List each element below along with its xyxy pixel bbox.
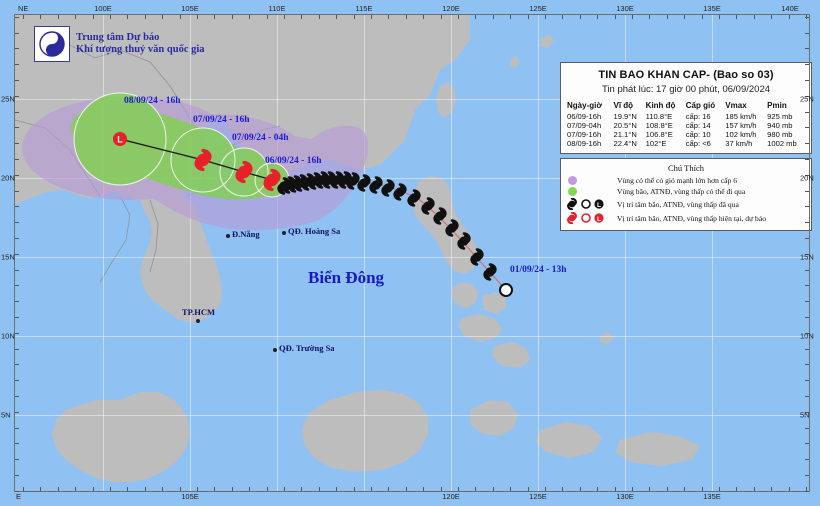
table-header-row: Ngày-giờ Vĩ độ Kinh độ Cấp gió Vmax Pmin (566, 100, 806, 112)
cell-category: cấp: 14 (685, 121, 725, 130)
col-datetime: Ngày-giờ (566, 100, 613, 112)
place-dot (226, 234, 230, 238)
org-line-1: Trung tâm Dự báo (76, 32, 205, 45)
cell-lon: 108.8°E (645, 121, 685, 130)
org-line-2: Khí tượng thuỷ văn quốc gia (76, 44, 205, 57)
cell-vmax: 102 km/h (724, 130, 766, 139)
legend-marker-group: L (566, 198, 612, 210)
legend-marker-group (566, 187, 612, 196)
lon-tick-label: 135E (703, 4, 721, 13)
lon-tick-label: 105E (181, 492, 199, 501)
lat-tick-label: 5N (800, 411, 810, 420)
bulletin-box: TIN BAO KHAN CAP- (Bao so 03) Tin phát l… (560, 62, 812, 154)
lon-tick-label: 130E (616, 4, 634, 13)
forecast-label: 08/09/24 - 16h (124, 96, 180, 106)
legend-box: Chú Thích Vùng có thể có gió mạnh lớn hơ… (560, 158, 812, 231)
red-low-circle-icon: L (594, 213, 603, 223)
cell-pmin: 940 mb (766, 121, 806, 130)
cell-lon: 102°E (645, 139, 685, 148)
organization-name: Trung tâm Dự báo Khí tượng thuỷ văn quốc… (76, 32, 205, 57)
place-dot (273, 348, 277, 352)
legend-label: Vị trí tâm bão, ATNĐ, vùng thấp đã qua (617, 200, 739, 209)
legend-item: Vùng có thể có gió mạnh lớn hơn cấp 6 (566, 176, 806, 185)
legend-marker-group: L (566, 212, 612, 224)
lon-tick-label: 140E (781, 4, 799, 13)
place-dot (196, 319, 200, 323)
lon-tick-label: 130E (616, 492, 634, 501)
sea-label-bien-dong: Biển Đông (308, 268, 384, 288)
table-row: 08/09-16h 22.4°N 102°E cấp: <6 37 km/h 1… (566, 139, 806, 148)
low-pressure-marker: L (113, 132, 127, 146)
place-label-truongsa: QĐ. Trường Sa (279, 343, 335, 353)
col-lon: Kinh độ (645, 100, 685, 112)
corner-label-e: E (16, 492, 21, 501)
cell-category: cấp: <6 (685, 139, 725, 148)
place-label-hoangsa: QĐ. Hoàng Sa (288, 226, 340, 236)
cell-datetime: 07/09-16h (566, 130, 613, 139)
col-category: Cấp gió (685, 100, 725, 112)
lon-tick-label: 115E (356, 4, 373, 13)
lat-tick-label: 5N (1, 411, 11, 420)
cell-category: cấp: 10 (685, 130, 725, 139)
cell-lon: 106.8°E (645, 130, 685, 139)
place-dot (282, 231, 286, 235)
bulletin-title: TIN BAO KHAN CAP- (Bao so 03) (566, 69, 806, 81)
forecast-table: Ngày-giờ Vĩ độ Kinh độ Cấp gió Vmax Pmin… (566, 100, 806, 148)
meteorology-logo-icon (34, 26, 70, 62)
forecast-label: 07/09/24 - 04h (232, 133, 288, 143)
cell-lat: 21.1°N (613, 130, 645, 139)
lon-tick-label: 125E (529, 4, 547, 13)
lat-tick-label: 25N (800, 95, 814, 104)
red-spiral-icon (568, 213, 576, 224)
table-row: 06/09-16h 19.9°N 110.8°E cấp: 16 185 km/… (566, 112, 806, 121)
lon-tick-label: 120E (442, 4, 460, 13)
svg-text:L: L (597, 202, 601, 209)
svg-text:L: L (597, 216, 601, 223)
lat-tick-label: 15N (800, 253, 814, 262)
forecast-label: 06/09/24 - 16h (265, 156, 321, 166)
lon-tick-label: 135E (703, 492, 721, 501)
lat-tick-label: 10N (1, 332, 15, 341)
cell-category: cấp: 16 (685, 112, 725, 121)
cell-pmin: 980 mb (766, 130, 806, 139)
cell-lat: 19.9°N (613, 112, 645, 121)
cell-datetime: 07/09-04h (566, 121, 613, 130)
cell-datetime: 08/09-16h (566, 139, 613, 148)
place-label-danang: Đ.Nẵng (232, 229, 260, 239)
lon-tick-label: 105E (181, 4, 199, 13)
legend-label: Vùng có thể có gió mạnh lớn hơn cấp 6 (617, 176, 737, 185)
cell-pmin: 1002 mb (766, 139, 806, 148)
lat-tick-label: 20N (1, 174, 15, 183)
legend-title: Chú Thích (566, 163, 806, 173)
lon-tick-label: 120E (442, 492, 460, 501)
legend-item: L Vị trí tâm bão, ATNĐ, vùng thấp hiện t… (566, 212, 806, 224)
cell-vmax: 37 km/h (724, 139, 766, 148)
cell-lon: 110.8°E (645, 112, 685, 121)
lon-tick-label: 110E (269, 4, 286, 13)
lon-tick-label: 100E (94, 4, 112, 13)
legend-label: Vị trí tâm bão, ATNĐ, vùng thấp hiện tại… (617, 214, 766, 223)
cell-vmax: 185 km/h (724, 112, 766, 121)
corner-label-ne: NE (18, 4, 28, 13)
cell-pmin: 925 mb (766, 112, 806, 121)
cell-lat: 22.4°N (613, 139, 645, 148)
purple-zone-swatch-icon (568, 176, 577, 185)
cell-lat: 20.5°N (613, 121, 645, 130)
origin-label: 01/09/24 - 13h (510, 265, 566, 275)
black-open-circle-icon (582, 200, 590, 208)
col-lat: Vĩ độ (613, 100, 645, 112)
bulletin-panel: TIN BAO KHAN CAP- (Bao so 03) Tin phát l… (560, 62, 812, 231)
black-low-circle-icon: L (594, 199, 603, 209)
black-spiral-icon (568, 199, 576, 210)
lat-tick-label: 20N (800, 174, 814, 183)
cell-vmax: 157 km/h (724, 121, 766, 130)
cell-datetime: 06/09-16h (566, 112, 613, 121)
place-label-tphcm: TP.HCM (182, 307, 215, 317)
red-open-circle-icon (582, 214, 590, 222)
forecast-label: 07/09/24 - 16h (193, 115, 249, 125)
origin-marker (500, 284, 512, 296)
lon-tick-label: 125E (529, 492, 547, 501)
green-zone-swatch-icon (568, 187, 577, 196)
lat-tick-label: 10N (800, 332, 814, 341)
svg-text:L: L (117, 135, 123, 145)
bulletin-subtitle: Tin phát lúc: 17 giờ 00 phút, 06/09/2024 (566, 84, 806, 95)
lat-tick-label: 25N (1, 95, 15, 104)
legend-item: Vùng bão, ATNĐ, vùng thấp có thể đi qua (566, 187, 806, 196)
lat-tick-label: 15N (1, 253, 15, 262)
legend-label: Vùng bão, ATNĐ, vùng thấp có thể đi qua (617, 187, 745, 196)
legend-marker-group (566, 176, 612, 185)
table-row: 07/09-16h 21.1°N 106.8°E cấp: 10 102 km/… (566, 130, 806, 139)
col-vmax: Vmax (724, 100, 766, 112)
legend-item: L Vị trí tâm bão, ATNĐ, vùng thấp đã qua (566, 198, 806, 210)
organization-branding: Trung tâm Dự báo Khí tượng thuỷ văn quốc… (34, 26, 205, 62)
typhoon-track-map: L 08/09/24 - 16h 07/09/24 - 16h 07/09/24… (0, 0, 820, 506)
table-row: 07/09-04h 20.5°N 108.8°E cấp: 14 157 km/… (566, 121, 806, 130)
